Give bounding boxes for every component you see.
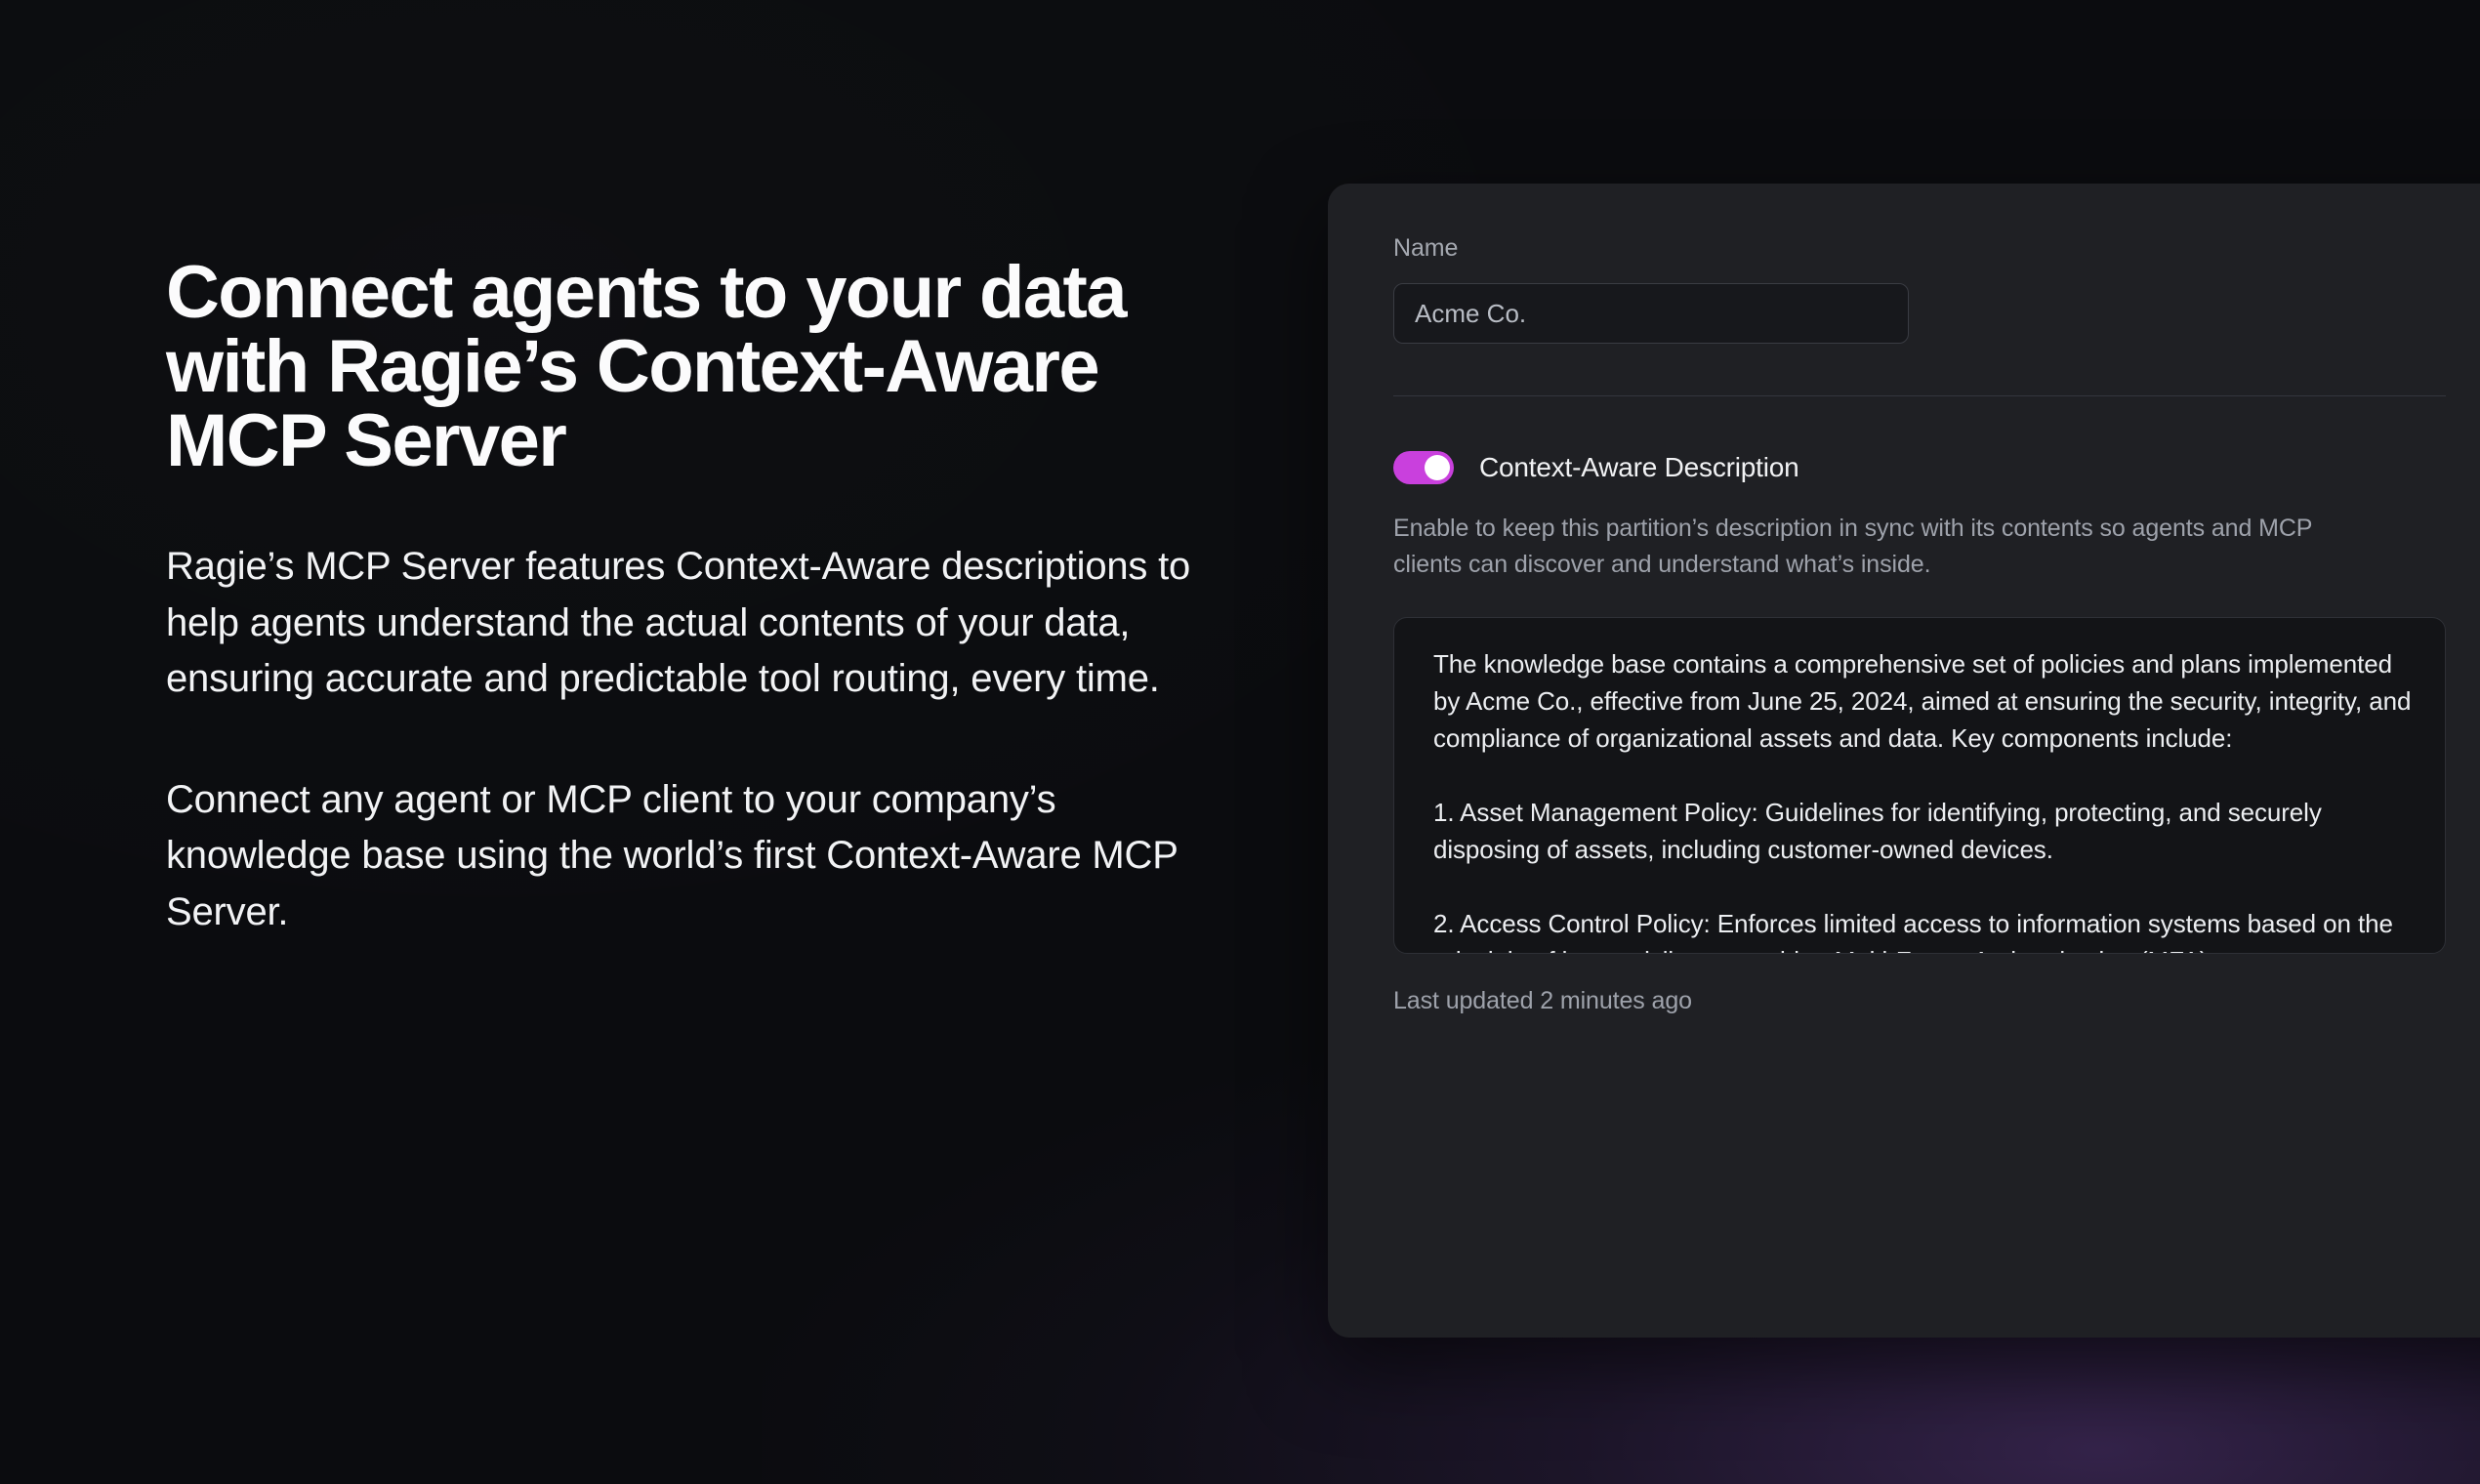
partition-settings-panel: Name Context-Aware Description Enable to… [1328,184,2480,1338]
page-title: Connect agents to your data with Ragie’s… [166,256,1172,478]
context-aware-toggle[interactable] [1393,451,1454,484]
hero-paragraph-2: Connect any agent or MCP client to your … [166,772,1201,941]
context-aware-help-text: Enable to keep this partition’s descript… [1393,511,2370,582]
context-aware-toggle-label: Context-Aware Description [1479,452,1799,483]
description-preview-box[interactable]: The knowledge base contains a comprehens… [1393,617,2446,954]
name-input[interactable] [1393,283,1909,344]
hero-section: Connect agents to your data with Ragie’s… [166,256,1201,941]
last-updated-status: Last updated 2 minutes ago [1393,987,2451,1015]
panel-divider [1393,395,2446,396]
hero-paragraph-1: Ragie’s MCP Server features Context-Awar… [166,539,1201,708]
name-field-group: Name [1393,234,2451,344]
description-preview-text: The knowledge base contains a comprehens… [1433,646,2414,954]
name-label: Name [1393,234,2451,263]
context-aware-toggle-row[interactable]: Context-Aware Description [1393,451,2451,484]
panel-content: Name Context-Aware Description Enable to… [1393,234,2451,1015]
toggle-knob-icon [1425,455,1450,480]
